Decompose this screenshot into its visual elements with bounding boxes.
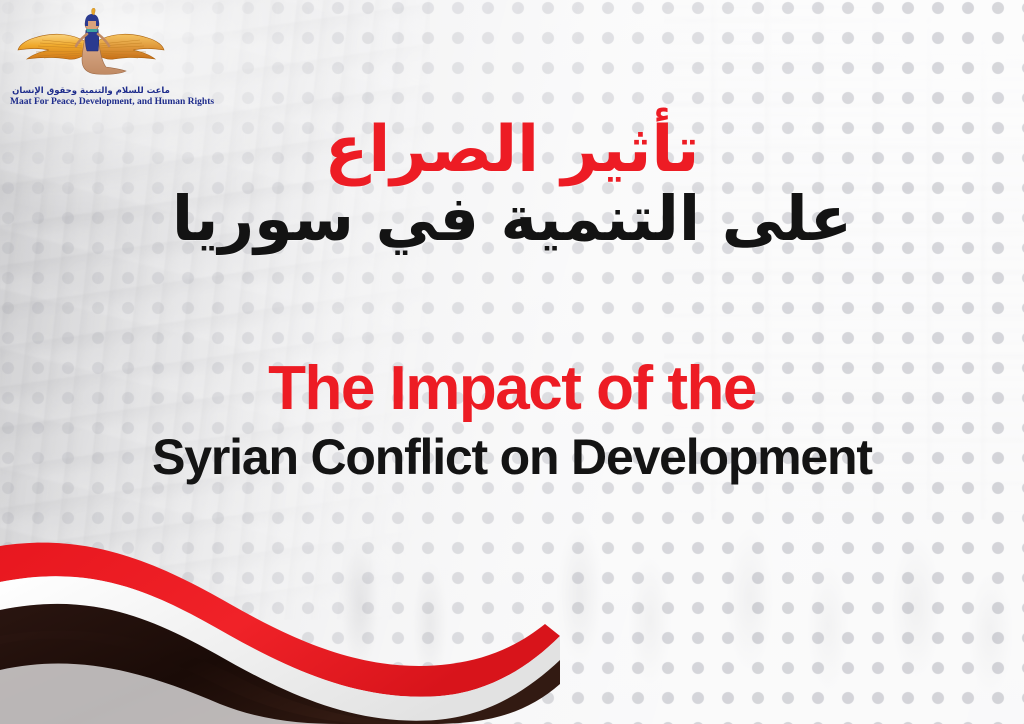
maat-winged-goddess-icon bbox=[16, 8, 166, 86]
english-headline-line-1: The Impact of the bbox=[0, 358, 1024, 420]
arabic-headline-block: تأثير الصراع على التنمية في سوريا bbox=[0, 118, 1024, 250]
english-headline-block: The Impact of the Syrian Conflict on Dev… bbox=[0, 358, 1024, 482]
poster-canvas: ماعت للسلام والتنمية وحقوق الإنسان Maat … bbox=[0, 0, 1024, 724]
arabic-headline-line-1: تأثير الصراع bbox=[0, 118, 1024, 182]
logo-english-name: Maat For Peace, Development, and Human R… bbox=[10, 97, 172, 108]
logo-arabic-name: ماعت للسلام والتنمية وحقوق الإنسان bbox=[10, 87, 172, 96]
english-headline-line-2: Syrian Conflict on Development bbox=[0, 432, 1024, 482]
organization-logo[interactable]: ماعت للسلام والتنمية وحقوق الإنسان Maat … bbox=[10, 8, 172, 108]
arabic-headline-line-2: على التنمية في سوريا bbox=[0, 188, 1024, 250]
